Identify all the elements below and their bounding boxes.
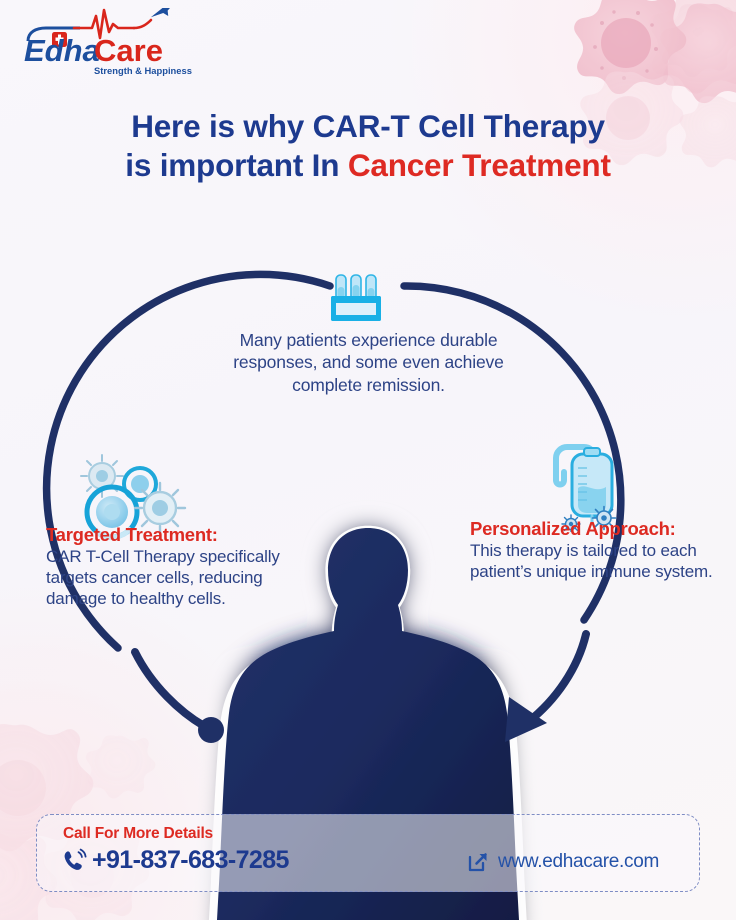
brand-logo[interactable]: Edha Care Strength & Happiness xyxy=(14,8,214,80)
external-link-icon xyxy=(467,851,489,873)
iv-drip-bag-icon xyxy=(538,432,642,532)
section-body-targeted-treatment: CAR T-Cell Therapy specifically targets … xyxy=(46,546,296,609)
phone-contact[interactable]: +91-837-683-7285 xyxy=(61,846,289,875)
section-body-long-lasting-effects: Many patients experience durable respons… xyxy=(216,329,521,396)
call-for-details-label: Call For More Details xyxy=(63,825,213,843)
infographic-poster: Edha Care Strength & Happiness Here is w… xyxy=(0,0,736,920)
section-heading-targeted-treatment: Targeted Treatment: xyxy=(46,524,296,545)
page-title: Here is why CAR-T Cell Therapy is import… xyxy=(0,108,736,183)
section-body-personalized-approach: This therapy is tailored to each patient… xyxy=(470,540,720,582)
logo-text-care: Care xyxy=(94,33,163,68)
logo-tagline: Strength & Happiness xyxy=(94,65,192,76)
title-accent: Cancer Treatment xyxy=(348,147,611,183)
phone-number: +91-837-683-7285 xyxy=(92,846,289,875)
contact-footer: Call For More Details +91-837-683-7285 w… xyxy=(36,814,700,892)
title-line-2-prefix: is important In xyxy=(125,147,348,183)
logo-artwork: Edha Care Strength & Happiness xyxy=(14,8,214,80)
section-heading-personalized-approach: Personalized Approach: xyxy=(470,518,720,539)
logo-text-edha: Edha xyxy=(24,33,100,68)
website-link[interactable]: www.edhacare.com xyxy=(467,851,659,873)
title-line-1: Here is why CAR-T Cell Therapy xyxy=(131,108,605,144)
section-targeted-treatment: Targeted Treatment: CAR T-Cell Therapy s… xyxy=(46,524,296,610)
section-personalized-approach: Personalized Approach: This therapy is t… xyxy=(470,518,720,582)
section-long-lasting-effects: Many patients experience durable respons… xyxy=(216,328,521,396)
website-url: www.edhacare.com xyxy=(498,851,659,873)
title-line-2: is important In Cancer Treatment xyxy=(0,147,736,184)
dot-ended-arrow xyxy=(135,652,224,743)
test-tube-rack-icon xyxy=(327,272,385,324)
triangle-head-arrow xyxy=(505,634,586,742)
phone-ringing-icon xyxy=(61,848,87,874)
